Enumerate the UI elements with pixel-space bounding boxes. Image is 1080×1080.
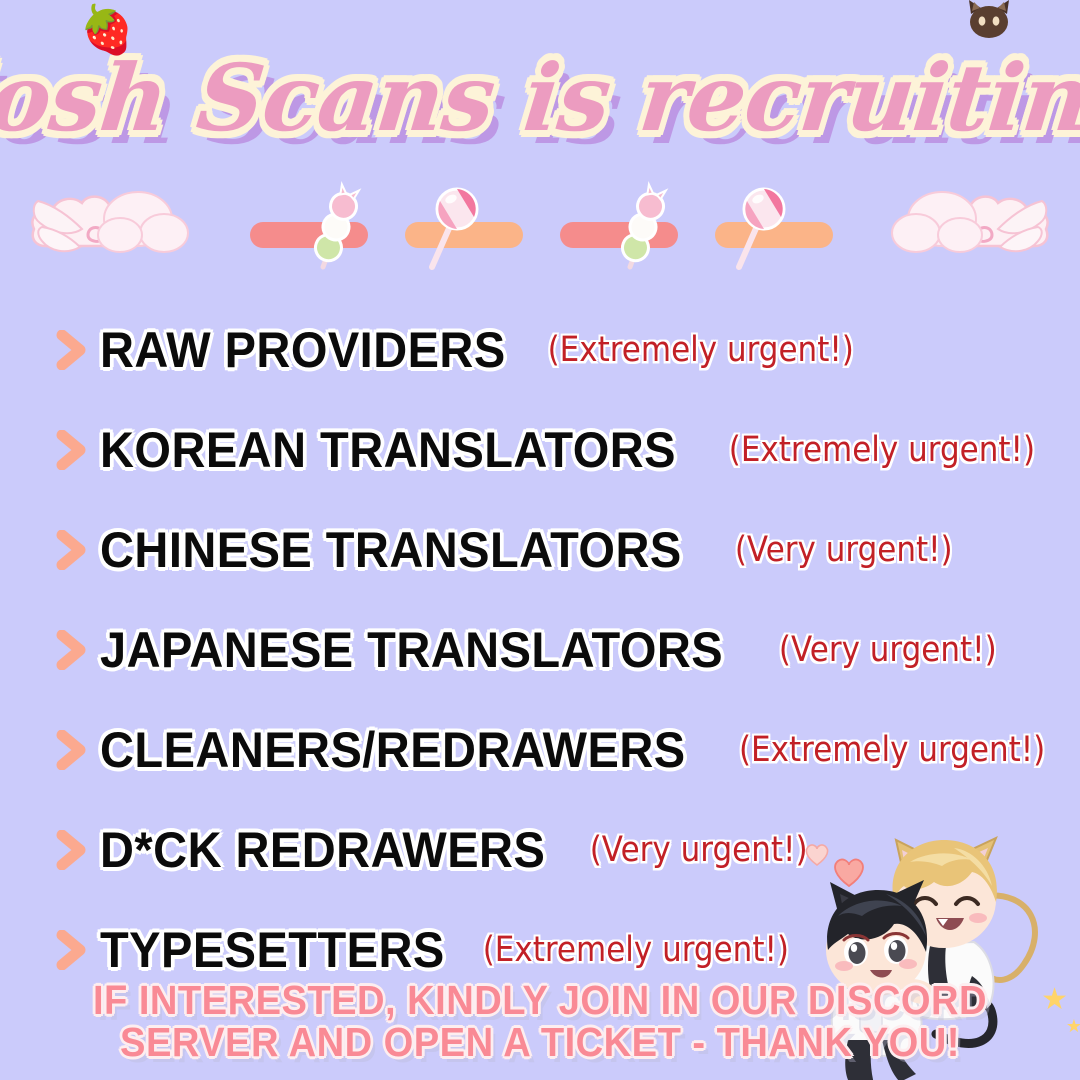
list-item[interactable]: JAPANESE TRANSLATORS (Very urgent!): [0, 600, 1080, 700]
footer-line-1: IF INTERESTED, KINDLY JOIN IN OUR DISCOR…: [38, 980, 1042, 1022]
dango-skewer-icon: [305, 181, 367, 273]
role-title: RAW PROVIDERS: [100, 321, 506, 379]
chevron-right-icon: [56, 930, 86, 970]
strawberry-icon: 🍓: [77, 0, 139, 59]
role-urgency: (Extremely urgent!): [739, 730, 1045, 770]
chevron-right-icon: [56, 630, 86, 670]
footer-line-2: SERVER AND OPEN A TICKET - THANK YOU!: [38, 1022, 1042, 1064]
role-title: D*CK REDRAWERS: [100, 821, 545, 879]
footer-callout: IF INTERESTED, KINDLY JOIN IN OUR DISCOR…: [0, 980, 1080, 1064]
page-title: Mosh Scans is recruiting!: [0, 44, 1080, 152]
winged-cloud-left-icon: [26, 171, 201, 276]
role-title: CLEANERS/REDRAWERS: [100, 721, 686, 779]
chevron-right-icon: [56, 830, 86, 870]
dango-skewer-icon: [612, 181, 674, 273]
lollipop-icon: [418, 181, 480, 273]
recruitment-poster: Mosh Scans is recruiting! 🍓: [0, 0, 1080, 1080]
role-title: TYPESETTERS: [100, 921, 445, 979]
role-urgency: (Very urgent!): [590, 830, 808, 870]
decorative-divider: [0, 165, 1080, 280]
heart-icon: [832, 856, 866, 887]
title-banner: Mosh Scans is recruiting! 🍓: [0, 38, 1080, 158]
role-title: KOREAN TRANSLATORS: [100, 421, 676, 479]
role-urgency: (Extremely urgent!): [729, 430, 1035, 470]
role-urgency: (Very urgent!): [779, 630, 997, 670]
chevron-right-icon: [56, 530, 86, 570]
role-urgency: (Extremely urgent!): [548, 330, 854, 370]
lollipop-icon: [725, 181, 787, 273]
role-title: JAPANESE TRANSLATORS: [100, 621, 723, 679]
role-urgency: (Extremely urgent!): [483, 930, 789, 970]
role-urgency: (Very urgent!): [735, 530, 953, 570]
winged-cloud-right-icon: [879, 171, 1054, 276]
cat-head-icon: [966, 0, 1012, 50]
role-title: CHINESE TRANSLATORS: [100, 521, 682, 579]
chevron-right-icon: [56, 430, 86, 470]
chevron-right-icon: [56, 730, 86, 770]
list-item[interactable]: RAW PROVIDERS (Extremely urgent!): [0, 300, 1080, 400]
heart-icon: [804, 842, 830, 866]
list-item[interactable]: CHINESE TRANSLATORS (Very urgent!): [0, 500, 1080, 600]
chevron-right-icon: [56, 330, 86, 370]
list-item[interactable]: CLEANERS/REDRAWERS (Extremely urgent!): [0, 700, 1080, 800]
list-item[interactable]: KOREAN TRANSLATORS (Extremely urgent!): [0, 400, 1080, 500]
